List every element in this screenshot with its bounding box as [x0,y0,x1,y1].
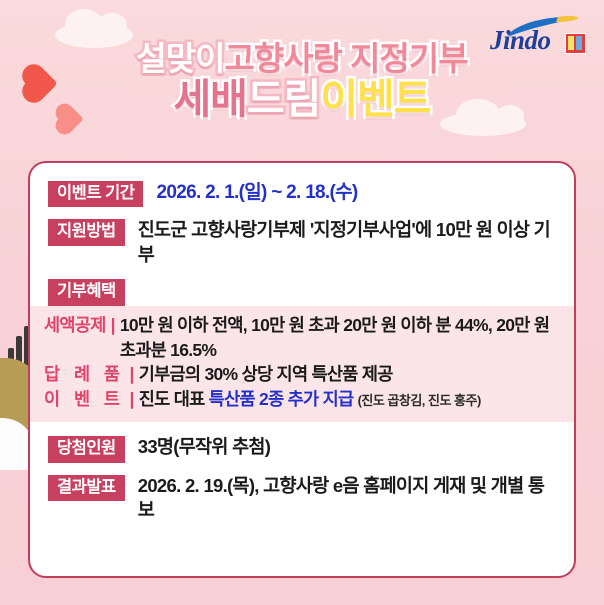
benefit-event-note: (진도 곱창김, 진도 홍주) [358,393,481,408]
benefit-text-gift: 기부금의 30% 상당 지역 특산품 제공 [139,362,560,387]
benefit-label-event: 이 벤 트 [44,387,130,412]
badge-winners: 당첨인원 [48,436,125,462]
title-seg-holiday: 설맞이 [136,42,224,75]
title-seg-donation: 고향사랑 지정기부 [225,42,468,75]
title-line-2: 세배드림이벤트 [0,79,604,120]
value-announcement: 2026. 2. 19.(목), 고향사랑 e음 홈페이지 게재 및 개별 통보 [138,474,558,523]
benefits-box: 세액공제 | 10만 원 이하 전액, 10만 원 초과 20만 원 이하 분 … [30,306,574,422]
badge-method: 지원방법 [48,219,125,245]
benefit-separator: | [130,387,139,412]
row-method: 지원방법 진도군 고향사랑기부제 '지정기부사업'에 10만 원 이상 기부 [30,218,574,267]
benefit-event-prefix: 진도 대표 [139,389,209,409]
row-period: 이벤트 기간 2026. 2. 1.(일) ~ 2. 18.(수) [30,180,574,207]
benefit-text-tax: 10만 원 이하 전액, 10만 원 초과 20만 원 이하 분 44%, 20… [120,313,560,363]
title-seg-event: 이벤트 [320,79,430,120]
benefit-label-gift: 답 례 품 [44,362,130,387]
value-period: 2026. 2. 1.(일) ~ 2. 18.(수) [156,180,558,205]
poster-title: 설맞이고향사랑 지정기부 세배드림이벤트 [0,42,604,120]
benefit-separator: | [130,362,139,387]
benefits-header: 기부혜택 [30,278,574,305]
benefit-event: 이 벤 트 | 진도 대표 특산품 2종 추가 지급 (진도 곱창김, 진도 홍… [44,387,560,412]
badge-benefits: 기부혜택 [48,279,125,305]
benefit-label-tax: 세액공제 [44,313,111,338]
title-seg-dream: 드림 [247,79,320,120]
title-seg-sebae: 세배 [173,79,246,120]
info-panel: 이벤트 기간 2026. 2. 1.(일) ~ 2. 18.(수) 지원방법 진… [28,161,576,578]
badge-period: 이벤트 기간 [48,181,143,207]
benefit-event-highlight: 특산품 2종 추가 지급 [209,389,354,409]
benefit-tax-deduction: 세액공제 | 10만 원 이하 전액, 10만 원 초과 20만 원 이하 분 … [44,313,560,363]
event-poster: Jindo 설맞이고향사랑 지정기부 세배드림이벤트 이벤트 기간 2026. … [0,0,604,605]
row-announcement: 결과발표 2026. 2. 19.(목), 고향사랑 e음 홈페이지 게재 및 … [30,474,574,523]
title-line-1: 설맞이고향사랑 지정기부 [0,42,604,75]
row-winners: 당첨인원 33명(무작위 추첨) [30,435,574,462]
benefit-text-event: 진도 대표 특산품 2종 추가 지급 (진도 곱창김, 진도 홍주) [139,387,560,412]
badge-announcement: 결과발표 [48,475,125,501]
benefit-separator: | [111,313,120,338]
value-winners: 33명(무작위 추첨) [138,435,558,459]
bottom-rows: 당첨인원 33명(무작위 추첨) 결과발표 2026. 2. 19.(목), 고… [30,435,574,522]
value-method: 진도군 고향사랑기부제 '지정기부사업'에 10만 원 이상 기부 [138,218,558,267]
benefit-gift: 답 례 품 | 기부금의 30% 상당 지역 특산품 제공 [44,362,560,387]
